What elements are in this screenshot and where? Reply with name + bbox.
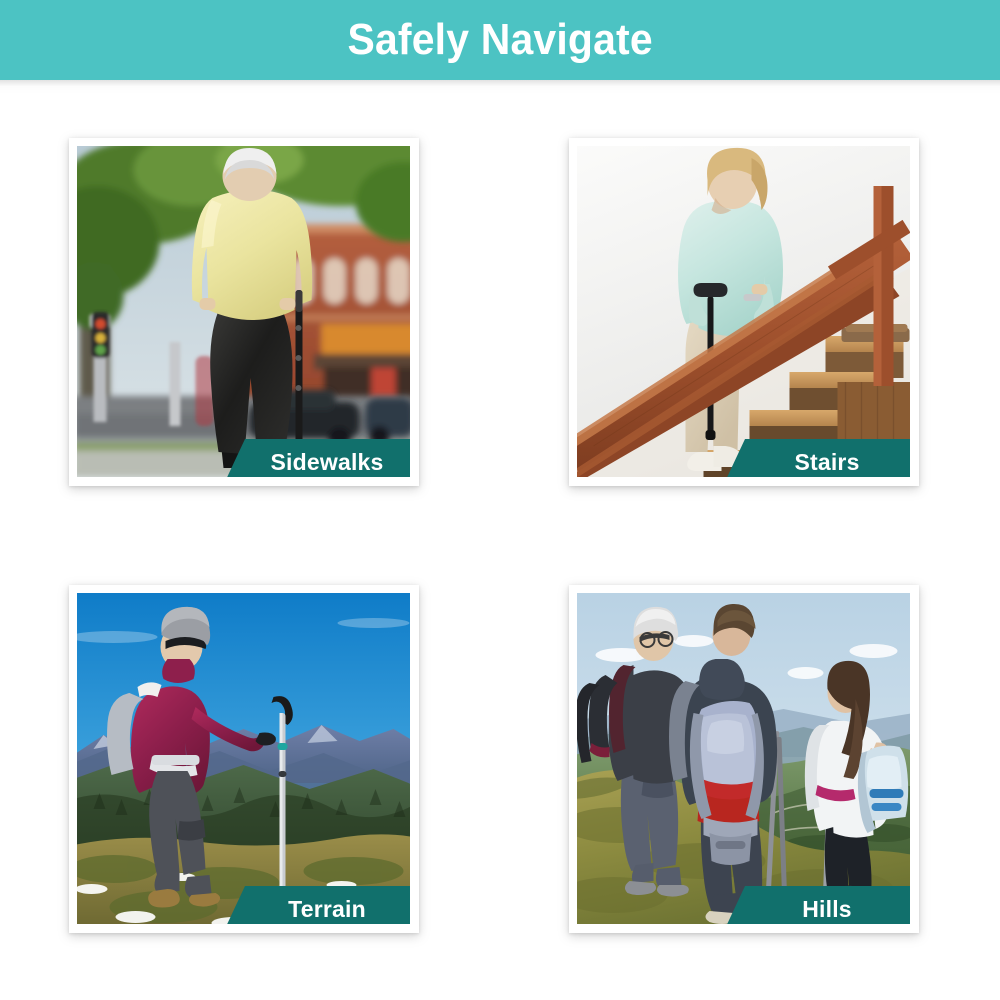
card-label-text: Hills — [790, 898, 852, 921]
photo-terrain: Terrain — [77, 593, 410, 924]
card-label-text: Terrain — [276, 898, 366, 921]
feature-card-sidewalks[interactable]: Sidewalks — [69, 138, 419, 486]
sidewalk-illustration — [77, 146, 410, 477]
terrain-illustration — [77, 593, 410, 924]
card-label-banner: Hills — [723, 886, 910, 924]
photo-sidewalks: Sidewalks — [77, 146, 410, 477]
hills-illustration — [577, 593, 910, 924]
card-label-banner: Sidewalks — [223, 439, 410, 477]
header-shadow — [0, 80, 1000, 94]
card-grid: Sidewalks — [0, 94, 1000, 1000]
header-band: Safely Navigate — [0, 0, 1000, 80]
card-label-text: Stairs — [782, 451, 859, 474]
card-label-banner: Terrain — [223, 886, 410, 924]
card-label-text: Sidewalks — [258, 451, 383, 474]
feature-card-hills[interactable]: Hills — [569, 585, 919, 933]
feature-card-stairs[interactable]: Stairs — [569, 138, 919, 486]
stairs-illustration — [577, 146, 910, 477]
feature-card-terrain[interactable]: Terrain — [69, 585, 419, 933]
poster-page: Safely Navigate — [0, 0, 1000, 1000]
card-label-banner: Stairs — [723, 439, 910, 477]
photo-hills: Hills — [577, 593, 910, 924]
page-title: Safely Navigate — [347, 18, 652, 62]
photo-stairs: Stairs — [577, 146, 910, 477]
